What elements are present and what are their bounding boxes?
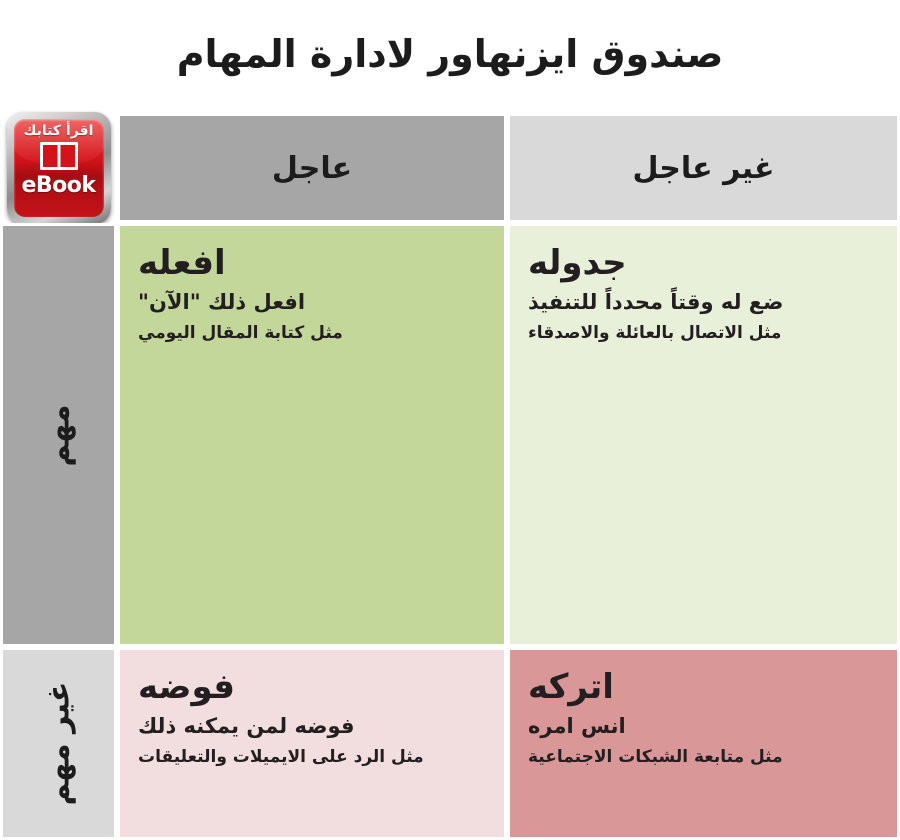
matrix-grid: غير عاجل عاجل اقرأ كتابك eBo	[0, 113, 900, 840]
quadrant-important-urgent: افعله افعل ذلك "الآن" مثل كتابة المقال ا…	[117, 223, 507, 647]
row-header-important: مهم	[0, 223, 117, 647]
ebook-badge[interactable]: اقرأ كتابك eBook	[7, 112, 111, 224]
ebook-badge-container[interactable]: اقرأ كتابك eBook	[0, 113, 117, 223]
quadrant-not-important-not-urgent: اتركه انس امره مثل متابعة الشبكات الاجتم…	[507, 647, 900, 840]
page-title: صندوق ايزنهاور لادارة المهام	[177, 32, 724, 82]
quadrant-important-not-urgent-action: ضع له وقتاً محدداً للتنفيذ	[528, 289, 783, 316]
eisenhower-matrix-page: صندوق ايزنهاور لادارة المهام غير عاجل عا…	[0, 0, 900, 840]
ebook-badge-inner: اقرأ كتابك eBook	[14, 119, 104, 217]
open-book-icon	[39, 141, 79, 175]
quadrant-not-important-urgent-action: فوضه لمن يمكنه ذلك	[138, 713, 354, 740]
column-header-not-urgent-label: غير عاجل	[633, 151, 775, 186]
quadrant-important-not-urgent: جدوله ضع له وقتاً محدداً للتنفيذ مثل الا…	[507, 223, 900, 647]
column-header-urgent-label: عاجل	[272, 151, 352, 186]
quadrant-important-not-urgent-example: مثل الاتصال بالعائلة والاصدقاء	[528, 322, 781, 345]
row-header-not-important-label: غير مهم	[41, 682, 76, 806]
quadrant-important-urgent-title: افعله	[138, 244, 226, 283]
quadrant-important-not-urgent-title: جدوله	[528, 244, 627, 283]
quadrant-not-important-not-urgent-title: اتركه	[528, 668, 614, 707]
quadrant-important-urgent-action: افعل ذلك "الآن"	[138, 289, 305, 316]
quadrant-not-important-urgent: فوضه فوضه لمن يمكنه ذلك مثل الرد على الا…	[117, 647, 507, 840]
quadrant-not-important-not-urgent-action: انس امره	[528, 713, 626, 740]
ebook-badge-arabic-label: اقرأ كتابك	[24, 123, 94, 139]
row-header-important-label: مهم	[41, 404, 76, 466]
page-title-bar: صندوق ايزنهاور لادارة المهام	[0, 0, 900, 113]
column-header-urgent: عاجل	[117, 113, 507, 223]
quadrant-important-urgent-example: مثل كتابة المقال اليومي	[138, 322, 343, 345]
quadrant-not-important-urgent-example: مثل الرد على الايميلات والتعليقات	[138, 746, 424, 769]
row-header-not-important: غير مهم	[0, 647, 117, 840]
column-header-not-urgent: غير عاجل	[507, 113, 900, 223]
quadrant-not-important-not-urgent-example: مثل متابعة الشبكات الاجتماعية	[528, 746, 783, 769]
quadrant-not-important-urgent-title: فوضه	[138, 668, 235, 707]
ebook-badge-label: eBook	[21, 175, 95, 197]
